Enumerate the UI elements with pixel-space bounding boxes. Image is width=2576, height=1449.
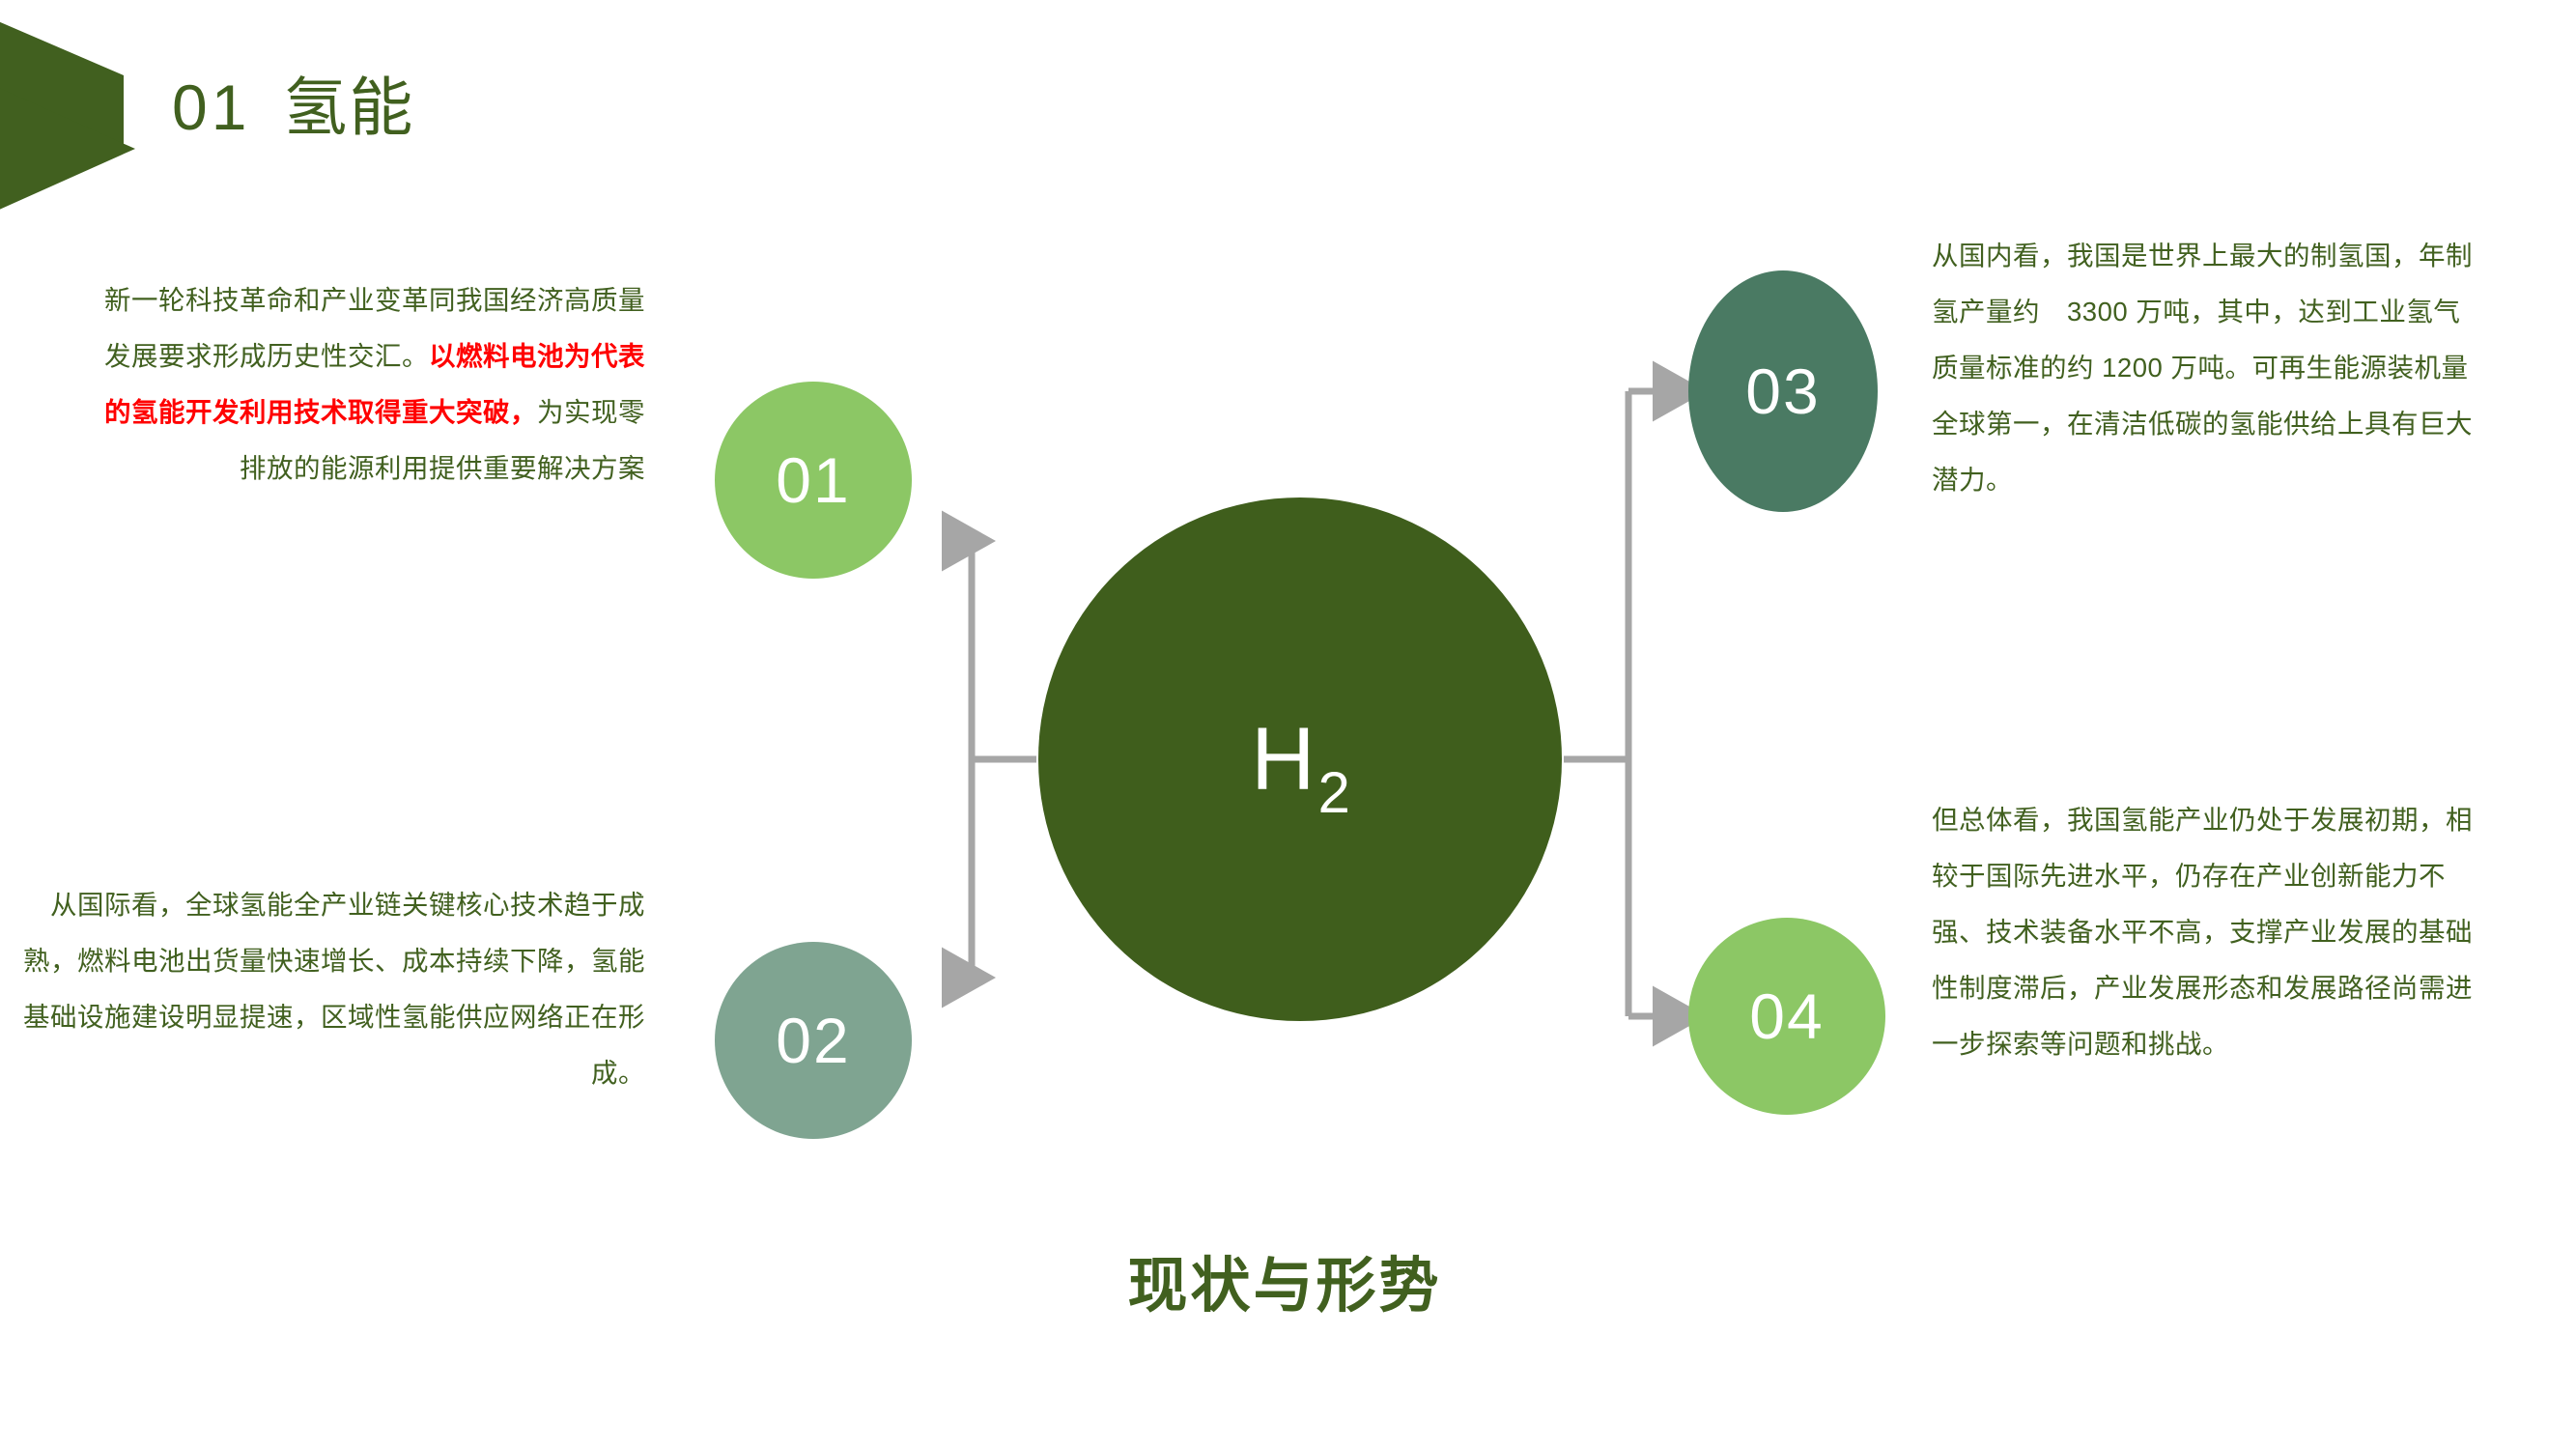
center-node-h2[interactable]: H2 [1038,497,1562,1021]
page-title-number: 01 [172,71,250,143]
footer-title: 现状与形势 [1043,1236,1526,1323]
paragraph-03: 从国内看，我国是世界上最大的制氢国，年制氢产量约 3300 万吨，其中，达到工业… [1932,228,2473,508]
node-03-label: 03 [1745,355,1820,428]
paragraph-04: 但总体看，我国氢能产业仍处于发展初期，相较于国际先进水平，仍存在产业创新能力不强… [1932,792,2480,1072]
node-04[interactable]: 04 [1688,918,1885,1115]
center-formula: H2 [1251,709,1349,810]
node-02[interactable]: 02 [715,942,912,1139]
node-03[interactable]: 03 [1688,270,1878,512]
paragraph-01: 新一轮科技革命和产业变革同我国经济高质量发展要求形成历史性交汇。以燃料电池为代表… [85,272,645,497]
node-02-label: 02 [776,1004,850,1077]
page-title-text: 氢能 [283,71,414,143]
node-04-label: 04 [1749,980,1824,1053]
node-01-label: 01 [776,443,850,517]
node-01[interactable]: 01 [715,382,912,579]
paragraph-02: 从国际看，全球氢能全产业链关键核心技术趋于成熟，燃料电池出货量快速增长、成本持续… [10,877,645,1101]
play-triangle-logo-icon [0,0,155,222]
center-formula-subscript: 2 [1318,760,1351,825]
page-title: 01氢能 [172,75,414,139]
